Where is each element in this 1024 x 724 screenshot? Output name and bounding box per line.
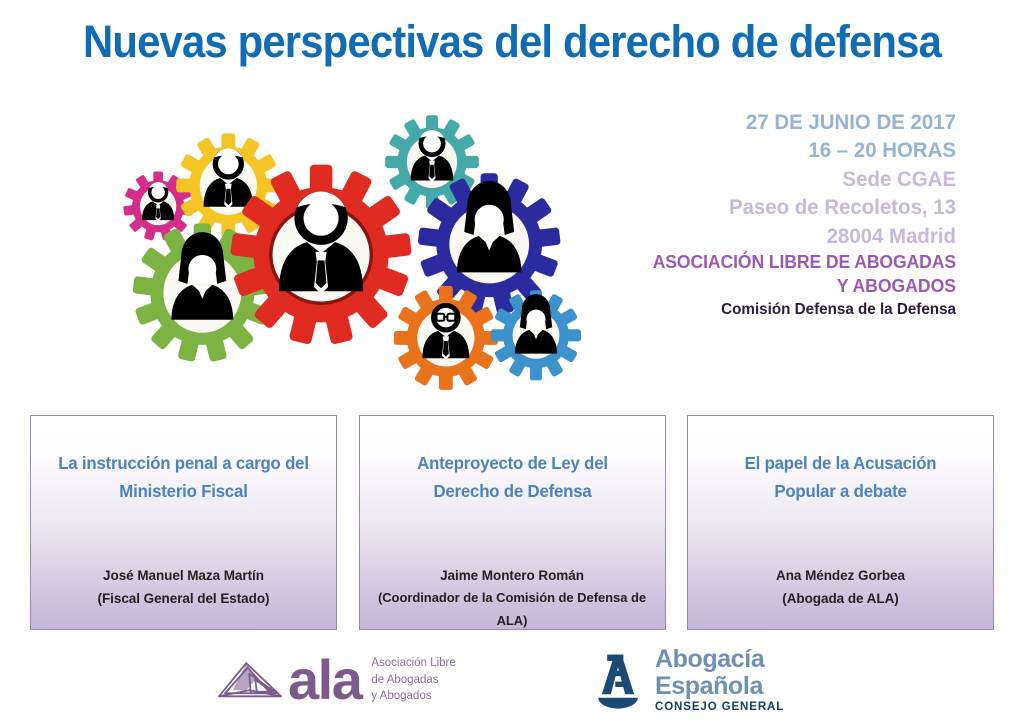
ala-logo[interactable]: ala Asociación Libre de Abogadas y Aboga…	[216, 647, 456, 713]
session-1-title-line2: Ministerio Fiscal	[119, 481, 247, 501]
footer-logos: ala Asociación Libre de Abogadas y Aboga…	[0, 641, 1024, 724]
session-3-title: El papel de la Acusación Popular a debat…	[704, 449, 978, 506]
session-2-speaker-role: (Coordinador de la Comisión de Defensa d…	[366, 587, 659, 632]
abogacia-espanola-logo[interactable]: Abogacía Española CONSEJO GENERAL	[591, 647, 784, 713]
event-address-line2: 28004 Madrid	[576, 222, 956, 250]
session-card-3[interactable]: El papel de la Acusación Popular a debat…	[687, 415, 994, 630]
session-3-speaker-role: (Abogada de ALA)	[694, 587, 987, 610]
session-2-speaker-block: Jaime Montero Román (Coordinador de la C…	[366, 564, 659, 632]
event-date: 27 DE JUNIO DE 2017	[576, 108, 956, 136]
abogacia-line3: CONSEJO GENERAL	[655, 702, 784, 714]
ala-subtitle-line3: y Abogados	[371, 690, 431, 702]
ala-subtitle: Asociación Libre de Abogadas y Abogados	[371, 655, 455, 705]
abogacia-line1: Abogacía	[655, 646, 784, 673]
gears-illustration	[68, 108, 588, 398]
organizer-line1: ASOCIACIÓN LIBRE DE ABOGADAS	[576, 250, 956, 274]
page-title: Nuevas perspectivas del derecho de defen…	[36, 18, 988, 65]
ala-subtitle-line2: de Abogadas	[371, 674, 438, 686]
abogacia-a-emblem-icon	[591, 651, 645, 709]
session-1-title-line1: La instrucción penal a cargo del	[58, 453, 309, 473]
ala-mountain-book-icon	[216, 657, 284, 703]
session-3-title-line2: Popular a debate	[774, 481, 906, 501]
session-3-title-line1: El papel de la Acusación	[745, 453, 937, 473]
abogacia-line2: Española	[655, 673, 784, 700]
session-2-title-line1: Anteproyecto de Ley del	[417, 453, 608, 473]
sessions-row: La instrucción penal a cargo del Ministe…	[30, 415, 994, 630]
session-1-title: La instrucción penal a cargo del Ministe…	[47, 449, 321, 506]
organizer-commission: Comisión Defensa de la Defensa	[576, 299, 956, 320]
event-info-block: 27 DE JUNIO DE 2017 16 – 20 HORAS Sede C…	[556, 108, 956, 320]
session-2-title-line2: Derecho de Defensa	[433, 481, 591, 501]
session-card-1[interactable]: La instrucción penal a cargo del Ministe…	[30, 415, 337, 630]
event-hours: 16 – 20 HORAS	[576, 136, 956, 164]
session-2-speaker-name: Jaime Montero Román	[440, 568, 584, 583]
session-2-title: Anteproyecto de Ley del Derecho de Defen…	[375, 449, 649, 506]
session-1-speaker-role: (Fiscal General del Estado)	[37, 587, 330, 610]
session-1-speaker-name: José Manuel Maza Martín	[103, 568, 264, 583]
session-1-speaker-block: José Manuel Maza Martín (Fiscal General …	[37, 564, 330, 610]
event-venue: Sede CGAE	[576, 165, 956, 193]
ala-wordmark: ala	[288, 656, 361, 704]
session-3-speaker-block: Ana Méndez Gorbea (Abogada de ALA)	[694, 564, 987, 610]
organizer-line2: Y ABOGADOS	[576, 274, 956, 298]
abogacia-wordmark: Abogacía Española CONSEJO GENERAL	[655, 646, 784, 714]
event-address-line1: Paseo de Recoletos, 13	[576, 193, 956, 221]
session-3-speaker-name: Ana Méndez Gorbea	[776, 568, 905, 583]
ala-subtitle-line1: Asociación Libre	[371, 657, 455, 669]
session-card-2[interactable]: Anteproyecto de Ley del Derecho de Defen…	[359, 415, 666, 630]
